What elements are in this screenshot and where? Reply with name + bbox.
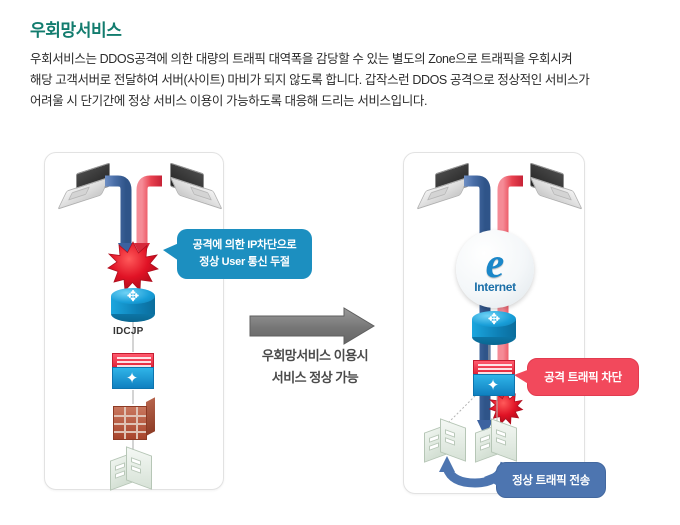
callout-tail — [484, 471, 499, 487]
router-label: IDCJP — [113, 326, 143, 337]
callout-text: 공격 트래픽 차단 — [544, 369, 622, 385]
router-icon: ✥ — [472, 311, 516, 345]
server-icon — [424, 420, 470, 464]
switch-icon: ✦ — [473, 360, 515, 396]
intro-line-3: 어려울 시 단기간에 정상 서비스 이용이 가능하도록 대응해 드리는 서비스입… — [30, 91, 645, 112]
page-title: 우회망서비스 — [30, 16, 121, 41]
callout-normal-traffic-forward: 정상 트래픽 전송 — [496, 462, 606, 498]
firewall-face — [113, 406, 147, 440]
server-icon — [110, 448, 156, 492]
intro-paragraph: 우회서비스는 DDOS공격에 의한 대량의 트래픽 대역폭을 감당할 수 있는 … — [30, 49, 645, 112]
callout-attack-ip-block: 공격에 의한 IP차단으로 정상 User 통신 두절 — [177, 229, 312, 279]
center-caption-line-1: 우회망서비스 이용시 — [235, 345, 395, 367]
firewall-icon — [113, 402, 155, 442]
center-caption-line-2: 서비스 정상 가능 — [235, 367, 395, 389]
switch-star-glyph: ✦ — [485, 378, 501, 394]
internet-icon: e Internet — [456, 230, 534, 308]
intro-line-1: 우회서비스는 DDOS공격에 의한 대량의 트래픽 대역폭을 감당할 수 있는 … — [30, 49, 645, 70]
switch-top — [473, 360, 515, 375]
laptop-icon — [168, 168, 220, 204]
internet-label: Internet — [474, 280, 516, 294]
laptop-icon — [528, 168, 580, 204]
callout-attack-traffic-blocked: 공격 트래픽 차단 — [527, 358, 639, 396]
router-icon: ✥ — [111, 288, 155, 322]
router-arrows-glyph: ✥ — [481, 312, 507, 327]
right-arrow-icon — [250, 308, 374, 344]
server-icon — [475, 420, 521, 464]
switch-star-glyph: ✦ — [124, 371, 140, 387]
callout-text: 정상 트래픽 전송 — [512, 472, 590, 488]
callout-tail — [514, 369, 530, 385]
callout-tail — [163, 243, 179, 261]
laptop-icon — [60, 168, 112, 204]
firewall-side — [146, 397, 155, 436]
page-root: 우회망서비스 우회서비스는 DDOS공격에 의한 대량의 트래픽 대역폭을 감당… — [0, 0, 680, 525]
intro-line-2: 해당 고객서버로 전달하여 서버(사이트) 마비가 되지 않도록 합니다. 갑작… — [30, 70, 645, 91]
center-caption: 우회망서비스 이용시 서비스 정상 가능 — [235, 345, 395, 389]
router-arrows-glyph: ✥ — [120, 289, 146, 304]
internet-e-glyph: e — [486, 246, 505, 282]
callout-line-1: 공격에 의한 IP차단으로 — [193, 237, 297, 254]
callout-line-2: 정상 User 통신 두절 — [193, 254, 297, 271]
laptop-icon — [419, 168, 471, 204]
switch-top — [112, 353, 154, 368]
switch-icon: ✦ — [112, 353, 154, 389]
